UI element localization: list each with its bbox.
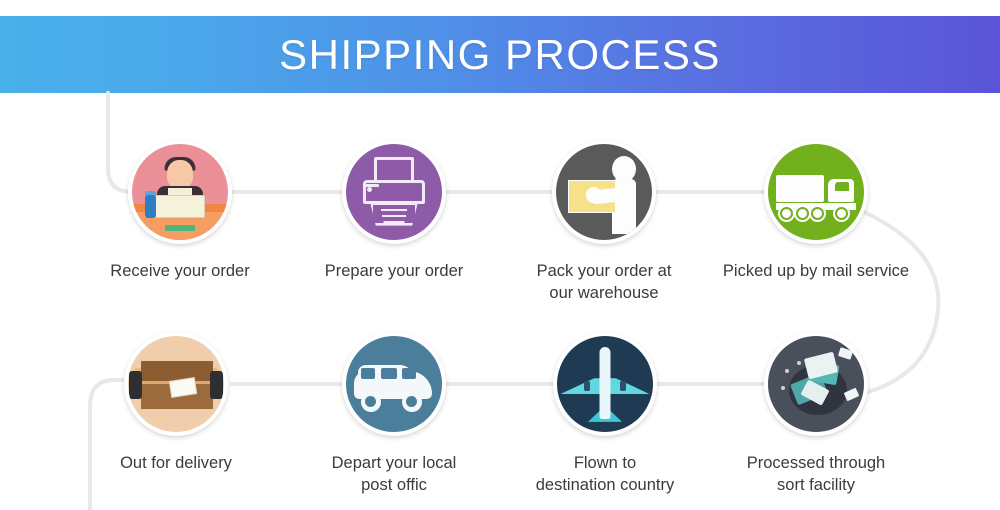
step-1-label-line1: Receive your order — [80, 260, 280, 282]
step-2-label: Prepare your order — [294, 260, 494, 282]
step-4[interactable]: Picked up by mail service — [716, 140, 916, 282]
step-8-label-line1: Processed through — [716, 452, 916, 474]
step-3-label-line2: our warehouse — [504, 282, 704, 304]
step-3[interactable]: Pack your order at our warehouse — [504, 140, 704, 305]
person-carrying-box-icon — [552, 140, 656, 244]
step-2[interactable]: Prepare your order — [294, 140, 494, 282]
step-6-label-line2: post offic — [294, 474, 494, 496]
step-6[interactable]: Depart your local post offic — [294, 332, 494, 497]
step-5-label-line1: Out for delivery — [76, 452, 276, 474]
step-5-label: Out for delivery — [76, 452, 276, 474]
step-4-label: Picked up by mail service — [716, 260, 916, 282]
step-7[interactable]: Flown to destination country — [505, 332, 705, 497]
step-4-label-line1: Picked up by mail service — [716, 260, 916, 282]
step-7-circle-wrap — [553, 332, 657, 436]
printer-icon — [342, 140, 446, 244]
airplane-icon — [553, 332, 657, 436]
header-banner: SHIPPING PROCESS — [0, 16, 1000, 93]
step-7-label-line1: Flown to — [505, 452, 705, 474]
step-6-circle-wrap — [342, 332, 446, 436]
step-3-circle-wrap — [552, 140, 656, 244]
step-8-circle-wrap — [764, 332, 868, 436]
page-title: SHIPPING PROCESS — [279, 31, 721, 79]
step-3-label: Pack your order at our warehouse — [504, 260, 704, 305]
step-8[interactable]: Processed through sort facility — [716, 332, 916, 497]
step-6-label: Depart your local post offic — [294, 452, 494, 497]
person-at-desk-icon — [128, 140, 232, 244]
step-1[interactable]: Receive your order — [80, 140, 280, 282]
step-7-label: Flown to destination country — [505, 452, 705, 497]
step-1-label: Receive your order — [80, 260, 280, 282]
step-5[interactable]: Out for delivery — [76, 332, 276, 474]
step-7-label-line2: destination country — [505, 474, 705, 496]
step-8-label-line2: sort facility — [716, 474, 916, 496]
mail-sorting-icon — [764, 332, 868, 436]
step-6-label-line1: Depart your local — [294, 452, 494, 474]
van-icon — [342, 332, 446, 436]
step-2-label-line1: Prepare your order — [294, 260, 494, 282]
shipping-process-infographic: SHIPPING PROCESS — [0, 0, 1000, 510]
step-5-circle-wrap — [124, 332, 228, 436]
step-1-circle-wrap — [128, 140, 232, 244]
step-2-circle-wrap — [342, 140, 446, 244]
step-3-label-line1: Pack your order at — [504, 260, 704, 282]
cardboard-box-icon — [124, 332, 228, 436]
truck-icon — [764, 140, 868, 244]
step-4-circle-wrap — [764, 140, 868, 244]
step-8-label: Processed through sort facility — [716, 452, 916, 497]
